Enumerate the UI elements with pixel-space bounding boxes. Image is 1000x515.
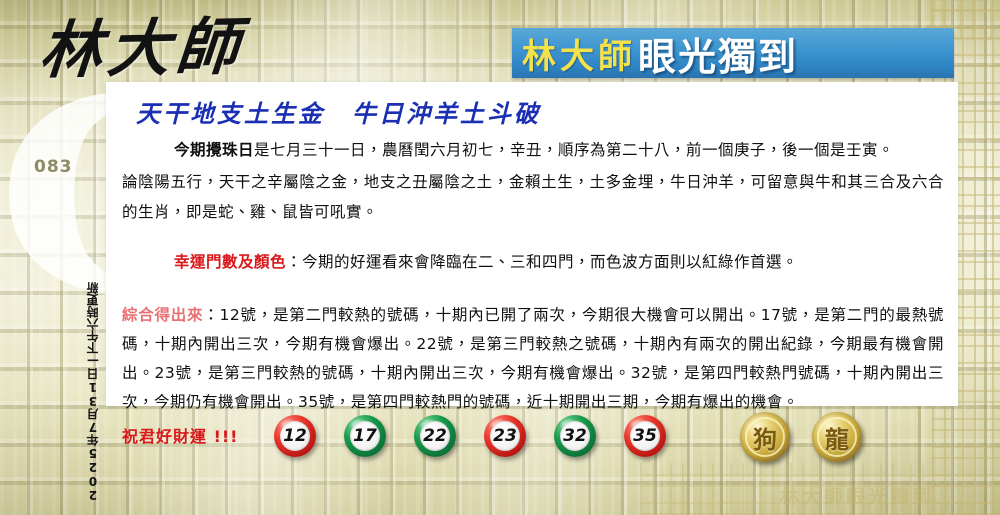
ball-number: 22 [420,421,450,451]
zodiac-medallion[interactable]: 狗 [740,412,790,462]
lucky-spacer [122,279,944,293]
analysis-label: 綜合得出來 [122,306,203,324]
lottery-ball[interactable]: 17 [344,415,386,457]
content-panel: 天干地支土生金 牛日沖羊土斗破 今期攪珠日是七月三十一日，農曆閏六月初七，辛丑，… [106,82,958,406]
ball-number: 32 [560,421,590,451]
lottery-ball[interactable]: 32 [554,415,596,457]
bottom-watermark: 林大師眼光獨到 [780,482,934,509]
article-headline: 天干地支土生金 牛日沖羊土斗破 [136,94,944,129]
ball-number: 23 [490,421,520,451]
zodiac-character: 狗 [753,420,777,455]
slogan-banner: 林大師 眼光獨到 [512,28,954,78]
lottery-ball[interactable]: 23 [484,415,526,457]
update-date-strip: 2025年7月31日—下午六時更新 [84,292,104,502]
lottery-ball[interactable]: 35 [624,415,666,457]
predicted-zodiac-row: 狗 龍 [740,412,862,462]
banner-slogan: 眼光獨到 [638,28,798,78]
article-paragraph-2: 論陰陽五行，天干之辛屬陰之金，地支之丑屬陰之土，金賴土生，土多金埋，牛日沖羊，可… [122,167,944,227]
lucky-text: ：今期的好運看來會降臨在二、三和四門，而色波方面則以紅綠作首選。 [286,253,798,271]
lottery-poster: G 083 林大師 林大師 眼光獨到 天干地支土生金 牛日沖羊土斗破 今期攪珠日… [0,0,1000,515]
predicted-numbers-row: 12 17 22 23 32 35 [274,415,666,457]
lucky-label: 幸運門數及顏色 [174,253,286,271]
lottery-ball[interactable]: 22 [414,415,456,457]
masthead-title: 林大師 [37,16,247,82]
ball-number: 35 [630,421,660,451]
lottery-ball[interactable]: 12 [274,415,316,457]
paragraph-1-rest: 是七月三十一日，農曆閏六月初七，辛丑，順序為第二十八，前一個庚子，後一個是壬寅。 [254,141,894,159]
analysis-paragraph: 綜合得出來：12號，是第二門較熱的號碼，十期內已開了兩次，今期很大機會可以開出。… [122,301,944,417]
paragraph-spacer [122,229,944,243]
ball-number: 12 [280,421,310,451]
issue-number: 083 [34,157,73,177]
paragraph-1-lead: 今期攪珠日 [174,141,254,159]
ball-number: 17 [350,421,380,451]
lucky-numbers-line: 幸運門數及顏色：今期的好運看來會降臨在二、三和四門，而色波方面則以紅綠作首選。 [122,247,944,277]
article-paragraph-1: 今期攪珠日是七月三十一日，農曆閏六月初七，辛丑，順序為第二十八，前一個庚子，後一… [122,135,944,165]
analysis-text: ：12號，是第二門較熱的號碼，十期內已開了兩次，今期很大機會可以開出。17號，是… [122,306,944,411]
banner-brand: 林大師 [522,29,636,78]
zodiac-character: 龍 [825,420,849,455]
zodiac-medallion[interactable]: 龍 [812,412,862,462]
